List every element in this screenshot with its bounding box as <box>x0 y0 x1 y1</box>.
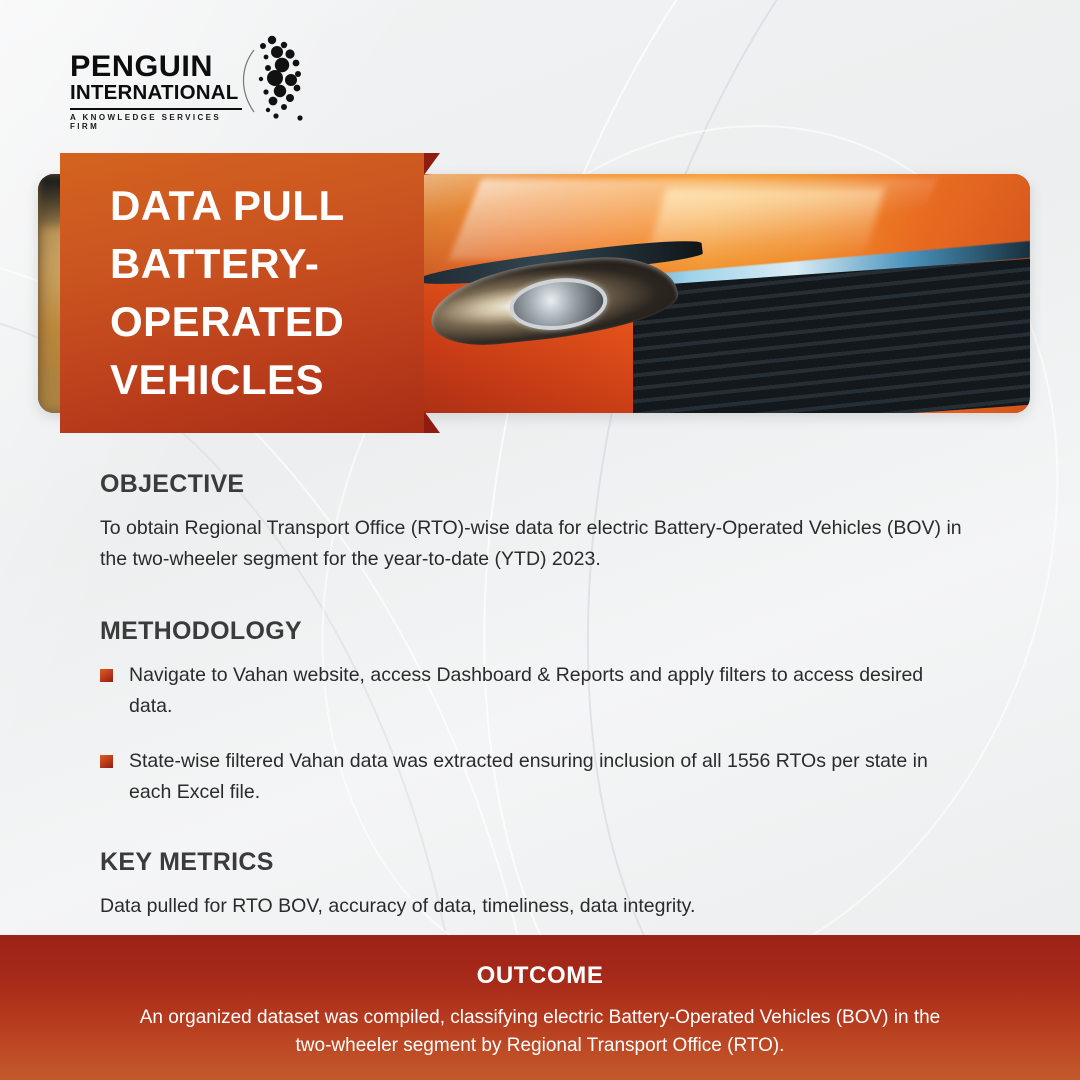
logo-divider <box>70 108 242 110</box>
objective-heading: OBJECTIVE <box>100 470 1000 499</box>
section-methodology: METHODOLOGY Navigate to Vahan website, a… <box>100 617 1000 808</box>
ribbon-fold-top-icon <box>424 153 440 175</box>
methodology-heading: METHODOLOGY <box>100 617 1000 646</box>
outcome-banner: OUTCOME An organized dataset was compile… <box>0 935 1080 1080</box>
objective-body: To obtain Regional Transport Office (RTO… <box>100 513 990 575</box>
page-title: DATA PULL BATTERY-OPERATED VEHICLES <box>60 177 424 409</box>
dotted-sphere-icon <box>220 30 306 126</box>
methodology-bullet-text: State-wise filtered Vahan data was extra… <box>129 746 929 808</box>
brand-logo: PENGUIN INTERNATIONAL A KNOWLEDGE SERVIC… <box>70 30 300 130</box>
list-item: State-wise filtered Vahan data was extra… <box>100 746 1000 808</box>
section-objective: OBJECTIVE To obtain Regional Transport O… <box>100 470 1000 575</box>
content-area: OBJECTIVE To obtain Regional Transport O… <box>100 470 1000 950</box>
infographic-page: PENGUIN INTERNATIONAL A KNOWLEDGE SERVIC… <box>0 0 1080 1080</box>
outcome-heading: OUTCOME <box>0 962 1080 990</box>
methodology-bullet-text: Navigate to Vahan website, access Dashbo… <box>129 660 929 722</box>
outcome-body: An organized dataset was compiled, class… <box>0 1004 1080 1060</box>
section-key-metrics: KEY METRICS Data pulled for RTO BOV, acc… <box>100 848 1000 922</box>
methodology-bullet-list: Navigate to Vahan website, access Dashbo… <box>100 660 1000 808</box>
bullet-square-icon <box>100 755 113 768</box>
ribbon-fold-bottom-icon <box>424 411 440 433</box>
list-item: Navigate to Vahan website, access Dashbo… <box>100 660 1000 722</box>
bullet-square-icon <box>100 669 113 682</box>
key-metrics-body: Data pulled for RTO BOV, accuracy of dat… <box>100 891 990 922</box>
key-metrics-heading: KEY METRICS <box>100 848 1000 877</box>
title-panel: DATA PULL BATTERY-OPERATED VEHICLES <box>60 153 424 433</box>
